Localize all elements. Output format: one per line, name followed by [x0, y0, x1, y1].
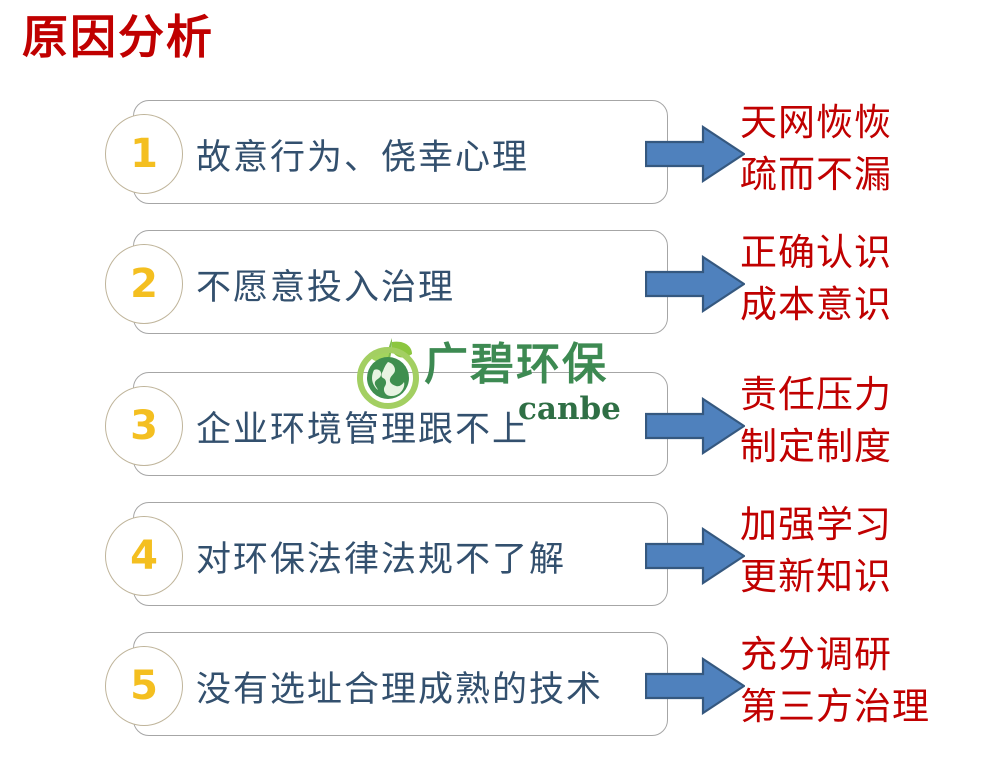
cause-number: 5 — [106, 647, 182, 725]
right-arrow-icon — [645, 657, 745, 715]
solution-line-2: 成本意识 — [740, 280, 970, 332]
solution-text: 加强学习 更新知识 — [740, 500, 970, 604]
slide-canvas: 原因分析 1 故意行为、侥幸心理 天网恢恢 疏而不漏 2 不愿意投入治理 — [0, 0, 984, 757]
solution-line-2: 制定制度 — [740, 422, 970, 474]
solution-text: 责任压力 制定制度 — [740, 370, 970, 474]
cause-label: 故意行为、侥幸心理 — [196, 114, 529, 194]
cause-number: 4 — [106, 517, 182, 595]
cause-label: 不愿意投入治理 — [196, 244, 455, 324]
solution-text: 天网恢恢 疏而不漏 — [740, 98, 970, 202]
solution-line-1: 正确认识 — [740, 228, 970, 280]
solution-line-2: 疏而不漏 — [740, 150, 970, 202]
cause-number-badge: 3 — [105, 386, 183, 466]
cause-number-badge: 2 — [105, 244, 183, 324]
cause-label: 企业环境管理跟不上 — [196, 386, 529, 466]
solution-line-1: 充分调研 — [740, 630, 970, 682]
cause-row: 1 故意行为、侥幸心理 天网恢恢 疏而不漏 — [0, 92, 984, 212]
right-arrow-icon — [645, 255, 745, 313]
cause-number-badge: 1 — [105, 114, 183, 194]
solution-line-1: 责任压力 — [740, 370, 970, 422]
cause-number-badge: 5 — [105, 646, 183, 726]
solution-line-1: 加强学习 — [740, 500, 970, 552]
right-arrow-icon — [645, 397, 745, 455]
solution-text: 正确认识 成本意识 — [740, 228, 970, 332]
cause-number: 1 — [106, 115, 182, 193]
cause-row: 2 不愿意投入治理 正确认识 成本意识 — [0, 222, 984, 342]
right-arrow-icon — [645, 125, 745, 183]
right-arrow-icon — [645, 527, 745, 585]
cause-label: 对环保法律法规不了解 — [196, 516, 566, 596]
solution-line-2: 第三方治理 — [740, 682, 970, 734]
cause-label: 没有选址合理成熟的技术 — [196, 646, 603, 726]
solution-line-2: 更新知识 — [740, 552, 970, 604]
cause-number-badge: 4 — [105, 516, 183, 596]
cause-number: 2 — [106, 245, 182, 323]
cause-number: 3 — [106, 387, 182, 465]
solution-text: 充分调研 第三方治理 — [740, 630, 970, 734]
cause-row: 3 企业环境管理跟不上 责任压力 制定制度 — [0, 364, 984, 484]
page-title: 原因分析 — [22, 8, 214, 66]
cause-row: 5 没有选址合理成熟的技术 充分调研 第三方治理 — [0, 624, 984, 744]
cause-row: 4 对环保法律法规不了解 加强学习 更新知识 — [0, 494, 984, 614]
solution-line-1: 天网恢恢 — [740, 98, 970, 150]
